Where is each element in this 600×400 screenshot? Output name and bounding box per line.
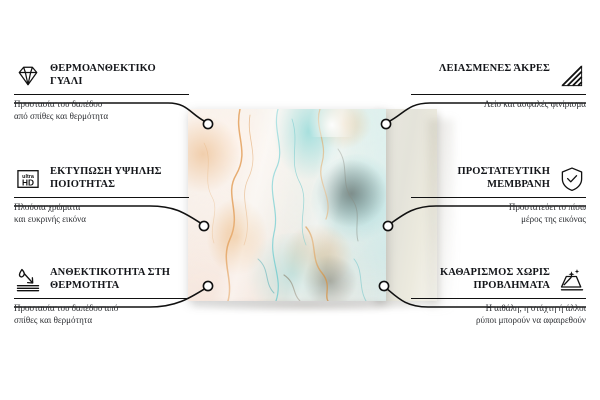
polished-edges-icon [558, 62, 586, 90]
feature-description: Λείο και ασφαλές φινίρισμα [411, 99, 586, 111]
glass-splashback [188, 109, 386, 301]
feature-description: Προστασία του δαπέδου απόσπίθες και θερμ… [14, 303, 189, 326]
feature-heat-resistance: ΑΝΘΕΚΤΙΚΟΤΗΤΑ ΣΤΗ ΘΕΡΜΟΤΗΤΑ Προστασία το… [14, 266, 189, 326]
feature-divider [14, 94, 189, 95]
feature-description: Προστασία του δαπέδουαπό σπίθες και θερμ… [14, 99, 189, 122]
feature-title: ΘΕΡΜΟΑΝΘΕΚΤΙΚΟ ΓΥΑΛΙ [50, 62, 189, 88]
heat-resistance-icon [14, 266, 42, 294]
feature-divider [411, 298, 586, 299]
feature-divider [14, 298, 189, 299]
feature-description: Προστατεύει το πίσωμέρος της εικόνας [411, 202, 586, 225]
feature-title: ΕΚΤΥΠΩΣΗ ΥΨΗΛΗΣ ΠΟΙΟΤΗΤΑΣ [50, 165, 189, 191]
ultra-hd-icon: ultra HD [14, 165, 42, 193]
feature-easy-cleaning: ΚΑΘΑΡΙΣΜΟΣ ΧΩΡΙΣ ΠΡΟΒΛΗΜΑΤΑ Η αιθάλη, η … [411, 266, 586, 326]
feature-title: ΚΑΘΑΡΙΣΜΟΣ ΧΩΡΙΣ ΠΡΟΒΛΗΜΑΤΑ [411, 266, 550, 292]
easy-clean-icon [558, 266, 586, 294]
product-scene [180, 105, 420, 305]
floor-shadow [194, 301, 444, 313]
shield-check-icon [558, 165, 586, 193]
infographic-canvas: ΘΕΡΜΟΑΝΘΕΚΤΙΚΟ ΓΥΑΛΙ Προστασία του δαπέδ… [0, 0, 600, 400]
feature-divider [411, 94, 586, 95]
glass-glare [306, 109, 358, 137]
feature-description: Πλούσια χρώματακαι ευκρινής εικόνα [14, 202, 189, 225]
feature-description: Η αιθάλη, η στάχτη ή άλλοιρύποι μπορούν … [411, 303, 586, 326]
feature-high-quality-print: ultra HD ΕΚΤΥΠΩΣΗ ΥΨΗΛΗΣ ΠΟΙΟΤΗΤΑΣ Πλούσ… [14, 165, 189, 225]
diamond-icon [14, 62, 42, 90]
feature-title: ΠΡΟΣΤΑΤΕΥΤΙΚΗ ΜΕΜΒΡΑΝΗ [411, 165, 550, 191]
feature-divider [411, 197, 586, 198]
glass-reflection [188, 109, 386, 301]
feature-polished-edges: ΛΕΙΑΣΜΕΝΕΣ ΆΚΡΕΣ Λείο και ασφαλές φινίρι… [411, 62, 586, 111]
feature-heat-resistant-glass: ΘΕΡΜΟΑΝΘΕΚΤΙΚΟ ΓΥΑΛΙ Προστασία του δαπέδ… [14, 62, 189, 122]
svg-text:HD: HD [22, 177, 34, 187]
feature-title: ΑΝΘΕΚΤΙΚΟΤΗΤΑ ΣΤΗ ΘΕΡΜΟΤΗΤΑ [50, 266, 189, 292]
feature-title: ΛΕΙΑΣΜΕΝΕΣ ΆΚΡΕΣ [439, 62, 550, 75]
feature-protective-membrane: ΠΡΟΣΤΑΤΕΥΤΙΚΗ ΜΕΜΒΡΑΝΗ Προστατεύει το πί… [411, 165, 586, 225]
feature-divider [14, 197, 189, 198]
